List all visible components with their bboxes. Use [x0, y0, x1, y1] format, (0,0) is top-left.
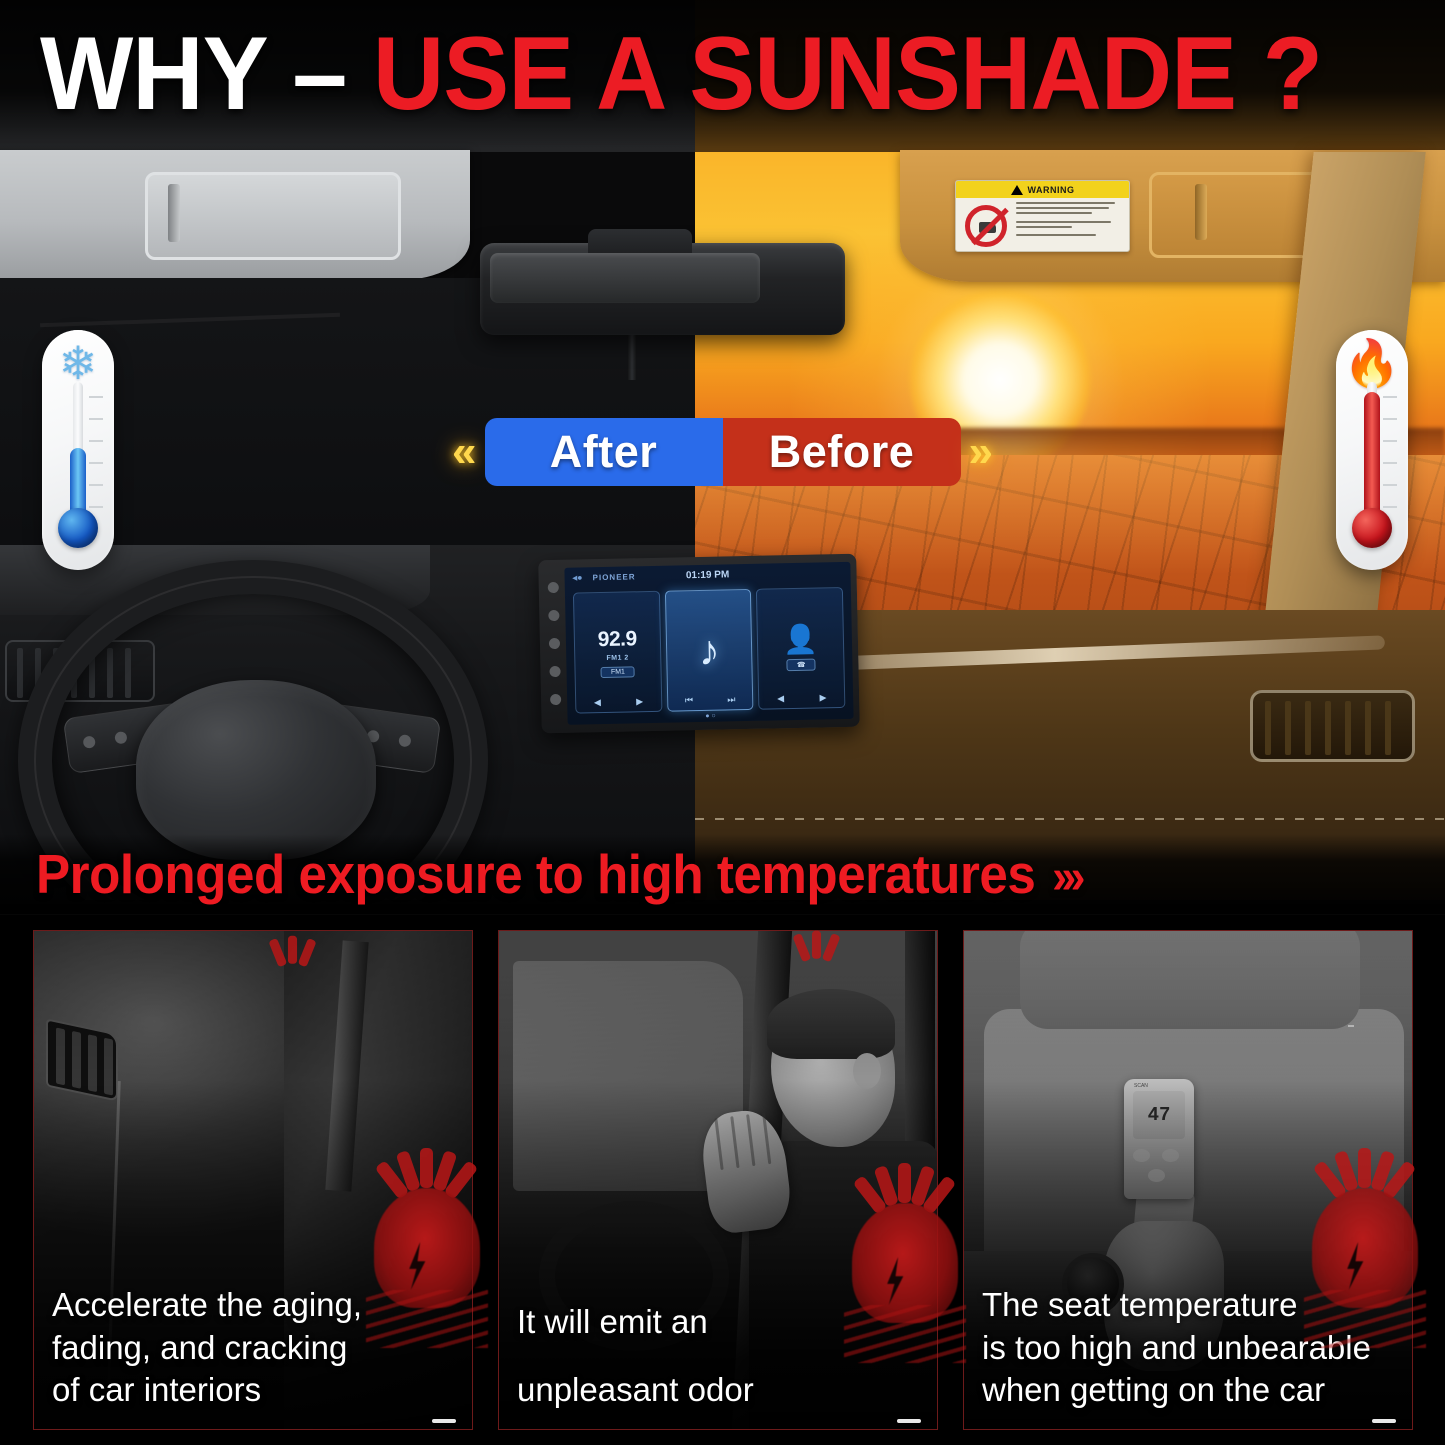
dashboard-stitching [695, 818, 1445, 820]
chevron-right-icon: » [961, 430, 1001, 474]
sun-visor-left [0, 150, 470, 280]
clock: 01:19 PM [686, 569, 730, 581]
caption-line: fading, and cracking [52, 1327, 454, 1369]
headline-text: Prolonged exposure to high temperatures [36, 843, 1035, 905]
airbag-warning-sticker: WARNING [955, 180, 1130, 252]
airbag-hub [136, 680, 376, 860]
person-icon: 👤 [783, 626, 818, 655]
phone-arrows[interactable]: ◀ ▶ [759, 692, 844, 705]
rearview-mirror [480, 243, 845, 335]
radio-band: FM1 2 [606, 654, 628, 661]
panel-caption: The seat temperature is too high and unb… [964, 1284, 1412, 1411]
visor-slot-right [1195, 184, 1207, 240]
headline-band: Prolonged exposure to high temperatures›… [0, 834, 1445, 914]
air-vent-right [1250, 690, 1415, 762]
caption-line: The seat temperature [982, 1284, 1394, 1326]
thermometer-bulb-hot [1352, 508, 1392, 548]
phone-next-icon[interactable]: ▶ [819, 692, 826, 703]
music-note-icon: ♪ [698, 631, 720, 669]
caption-line: is too high and unbearable [982, 1327, 1394, 1369]
caption-line: Accelerate the aging, [52, 1284, 454, 1326]
media-prev-icon[interactable]: ⏮ [685, 695, 693, 706]
tile-phone[interactable]: 👤 ☎ ◀ ▶ [756, 587, 845, 710]
warning-body [956, 198, 1129, 252]
infotainment-screen[interactable]: ◂● PIONEER 01:19 PM 92.9 FM1 2 FM1 ◀ ▶ [564, 562, 853, 725]
panel-caption: It will emit an unpleasant odor [499, 1301, 937, 1411]
caption-underscore [1372, 1419, 1396, 1423]
page-title: WHY – USE A SUNSHADE ? [40, 22, 1322, 126]
phone-pill[interactable]: ☎ [787, 659, 816, 672]
head-unit-brand: PIONEER [592, 572, 635, 582]
caption-underscore [897, 1419, 921, 1423]
warning-banner: WARNING [956, 181, 1129, 198]
radio-frequency: 92.9 [598, 627, 637, 652]
home-tiles: 92.9 FM1 2 FM1 ◀ ▶ ♪ ⏮ ⏭ [565, 582, 854, 714]
tile-radio[interactable]: 92.9 FM1 2 FM1 ◀ ▶ [573, 591, 662, 714]
before-badge[interactable]: Before [723, 418, 961, 486]
infotainment-head-unit[interactable]: ◂● PIONEER 01:19 PM 92.9 FM1 2 FM1 ◀ ▶ [538, 554, 860, 734]
after-badge[interactable]: After [485, 418, 723, 486]
radio-arrows[interactable]: ◀ ▶ [576, 696, 661, 709]
phone-prev-icon[interactable]: ◀ [777, 693, 784, 704]
media-next-icon[interactable]: ⏭ [727, 694, 735, 705]
caption-line: It will emit an [517, 1301, 919, 1343]
consequence-panels: Accelerate the aging, fading, and cracki… [0, 915, 1445, 1445]
wifi-icon: ◂● [572, 572, 582, 583]
title-use-a-sunshade: USE A SUNSHADE ? [373, 16, 1322, 132]
caption-line: when getting on the car [982, 1369, 1394, 1411]
headline-row: Prolonged exposure to high temperatures›… [36, 847, 1080, 902]
headline-chevrons-icon: ››› [1052, 851, 1080, 904]
warning-text-lines [1016, 198, 1129, 252]
title-dash: – [292, 16, 346, 132]
radio-prev-icon[interactable]: ◀ [594, 697, 601, 708]
warning-label: WARNING [1028, 185, 1075, 195]
visor-slot-left [168, 184, 180, 242]
panel-unpleasant-odor[interactable]: It will emit an unpleasant odor [498, 930, 938, 1430]
poster-title-bar: WHY – USE A SUNSHADE ? [0, 0, 1445, 148]
snowflake-icon: ❄ [42, 340, 114, 386]
tile-media[interactable]: ♪ ⏮ ⏭ [665, 589, 754, 712]
radio-next-icon[interactable]: ▶ [636, 696, 643, 707]
after-before-badge-row: « After Before » [0, 417, 1445, 487]
no-child-seat-icon [956, 198, 1016, 252]
radio-band-pill[interactable]: FM1 [601, 666, 635, 678]
sunshade-marketing-poster: WARNING ◂● PIONEER 01:19 PM [0, 0, 1445, 1445]
panel-seat-temperature[interactable]: 47 SCAN The seat temperature is too high… [963, 930, 1413, 1430]
chevron-left-icon: « [444, 430, 484, 474]
warning-triangle-icon [1011, 185, 1023, 195]
caption-underscore [432, 1419, 456, 1423]
panel-caption: Accelerate the aging, fading, and cracki… [34, 1284, 472, 1411]
thermometer-bulb-cold [58, 508, 98, 548]
panel-aging-interiors[interactable]: Accelerate the aging, fading, and cracki… [33, 930, 473, 1430]
title-why: WHY [40, 16, 266, 132]
flame-icon: 🔥 [1336, 340, 1408, 386]
head-unit-side-buttons[interactable] [545, 582, 564, 714]
media-arrows[interactable]: ⏮ ⏭ [668, 694, 753, 707]
caption-line: of car interiors [52, 1369, 454, 1411]
caption-line: unpleasant odor [517, 1369, 919, 1411]
